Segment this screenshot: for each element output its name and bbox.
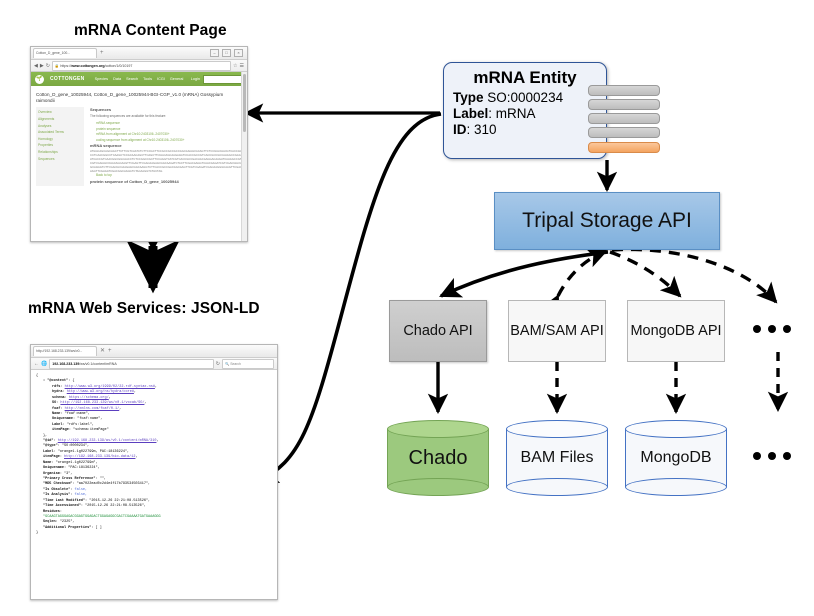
json-ld-browser-window[interactable]: http://192.168.233.139/ws/v0... ✕ + ← 🌐 … [30,344,278,600]
site-search-input[interactable] [203,75,243,84]
login-link[interactable]: Login [191,77,200,81]
tripal-storage-api-label: Tripal Storage API [522,209,692,233]
json-token: itemPage [52,428,69,432]
entity-row-id: ID: 310 [453,122,606,137]
url-scheme: https:// [60,64,71,68]
page-title: Cotton_D_gene_10025944, Cotton_D_gene_10… [31,86,247,107]
nav-tools[interactable]: Tools [143,77,152,81]
json-token: Seqlen [43,520,56,524]
nav-icgi[interactable]: ICGI [157,77,165,81]
tripal-storage-api-box[interactable]: Tripal Storage API [494,192,720,250]
entity-row-id-value: : 310 [467,122,497,137]
json-browser-titlebar: http://192.168.233.139/ws/v0... ✕ + [31,345,277,358]
json-token: Residues [43,510,60,514]
subheading-protein-sequence: protein sequence of Cotton_D_gene_100259… [90,179,242,184]
json-token: "Additional Properties" [43,526,91,530]
json-token: "2015-12-26 22:21:08.513526", [89,499,150,503]
search-icon: 🔍 [225,362,229,366]
json-token: { [36,374,38,378]
json-token: , [155,385,157,389]
link-protein-sequence[interactable]: protein sequence [96,127,242,131]
json-token: "@context" [47,379,68,383]
ellipsis-dot [768,325,776,333]
json-browser-navbar: ← 🌐 192.168.233.139/ws/v0.1/content/mRNA… [31,358,277,370]
back-icon[interactable]: ← [34,361,39,367]
json-token: "@type" [43,444,58,448]
ellipsis-dot [753,452,761,460]
cottongen-nav[interactable]: Species Data Search Tools ICGI General [95,77,184,81]
content-browser-address-bar[interactable]: 🔒 https://www.cottongen.org/cotton/1/0/1… [52,61,231,71]
ellipsis-dot [783,452,791,460]
minimize-icon[interactable]: – [210,49,219,57]
sidebar-item-properties[interactable]: Properties [38,143,82,147]
entity-field-bar-3 [588,113,660,124]
bookmark-star-icon[interactable]: ☆ [233,63,237,69]
arrow-storage-to-mongodb-api [610,252,680,296]
json-link[interactable]: http://www.w3.org/ns/hydra/core# [67,390,134,394]
json-token: "Primary Cross Reference" [43,477,96,481]
json-token: Uniquename [43,466,64,470]
url-path: /ws/v0.1/content/mRNA [79,362,117,366]
json-token: "aa7022ead0c2d4e4f17b793534503417", [77,482,151,486]
entity-field-bar-2 [588,99,660,110]
json-token: , [119,407,121,411]
entity-row-type: Type SO:0000234 [453,90,606,105]
arrow-storage-to-chado-api [441,252,608,296]
entity-row-label-key: Label [453,106,488,121]
json-token: }, [43,434,47,438]
link-mrna-from-alignment[interactable]: mRNA from alignment at Chr10:2403106..24… [96,132,242,136]
sidebar-item-alignments[interactable]: Alignments [38,117,82,121]
close-tab-icon[interactable]: ✕ [100,347,105,356]
page-columns: Overview Alignments Analyses Associated … [31,107,247,185]
json-token: , [144,401,146,405]
json-token: Label [52,423,63,427]
cottongen-nav-right: Login [191,75,243,84]
nav-general[interactable]: General [170,77,184,81]
json-link[interactable]: https://schema.org/ [69,396,109,400]
json-token: Label [43,450,54,454]
sidebar-item-relationships[interactable]: Relationships [38,150,82,154]
json-token: : { [68,379,74,383]
json-ld-document: {• "@context": {rdfs: http://www.w3.org/… [31,370,277,541]
subheading-mrna-sequence: mRNA sequence [90,143,242,148]
mongodb-api-box[interactable]: MongoDB API [627,300,725,362]
chado-api-box[interactable]: Chado API [389,300,487,362]
json-token: "Is Obsolete" [43,488,70,492]
cottongen-logo-icon: 🌱 [35,75,44,84]
json-token: hydra [52,390,63,394]
content-page-browser-window[interactable]: Cotton_D_gene_100... + – □ × ◀ ▶ ↻ 🔒 htt… [30,46,248,242]
json-token: "Time Accessioned" [43,504,81,508]
json-link[interactable]: http://192.168.233.139/ws/v0.1/content/m… [58,439,157,443]
json-token: "2325", [60,520,75,524]
content-browser-titlebar: Cotton_D_gene_100... + – □ × [31,47,247,60]
json-line: } [36,531,272,536]
reload-icon[interactable]: ↻ [46,63,50,69]
json-token: , [134,390,136,394]
content-browser-tab[interactable]: Cotton_D_gene_100... [33,48,97,58]
menu-icon[interactable]: ☰ [240,63,244,69]
entity-row-type-value: SO:0000234 [484,90,564,105]
ellipsis-dot [768,452,776,460]
arrow-storage-to-more [612,249,776,302]
sequence-block: ATGGCAGCAGCAGCTTCTTCGTCAATCTCTTCCGCTTCCG… [90,150,242,173]
json-link[interactable]: http://www.w3.org/1999/02/22-rdf-syntax-… [65,385,155,389]
content-browser-scrollbar[interactable] [241,72,247,242]
json-browser-address-bar[interactable]: 192.168.233.139/ws/v0.1/content/mRNA [49,359,214,369]
mongodb-datastore-label: MongoDB [625,420,727,496]
mongodb-api-label: MongoDB API [630,323,721,340]
scrollbar-thumb[interactable] [243,74,246,132]
json-link[interactable]: http://192.168.233.139/ws/v0.1/vocab/SO/ [60,401,144,405]
page-sidebar[interactable]: Overview Alignments Analyses Associated … [36,107,84,185]
url-path: /cotton/1/0/10197 [105,64,133,68]
ellipsis-dot [753,325,761,333]
bam-sam-api-box[interactable]: BAM/SAM API [508,300,606,362]
close-icon[interactable]: × [234,49,243,57]
nav-data[interactable]: Data [113,77,121,81]
bam-files-datastore-label: BAM Files [506,420,608,496]
json-token: "2015-12-26 22:21:08.513526", [85,504,146,508]
json-token: "rdfs:label", [67,423,94,427]
json-token: "", [100,477,106,481]
entity-row-label: Label: mRNA [453,106,606,121]
sidebar-item-analyses[interactable]: Analyses [38,124,82,128]
chado-datastore[interactable]: Chado [387,420,489,496]
heading-mrna-web-services: mRNA Web Services: JSON-LD [28,300,260,318]
json-token: "PAC:18136224", [68,466,100,470]
link-coding-sequence-from-alignment[interactable]: coding sequence from alignment at Chr10:… [96,138,242,142]
section-intro-text: The following sequences are available fo… [90,114,242,118]
json-token: Uniquename [52,417,73,421]
json-token: Organism [43,472,60,476]
json-token: "foaf:name", [77,417,102,421]
entity-row-label-value: : mRNA [488,106,535,121]
entity-title: mRNA Entity [444,68,606,88]
json-token: "Time Last Modified" [43,499,85,503]
heading-mrna-content-page: mRNA Content Page [74,22,227,40]
json-token: itemPage [43,455,60,459]
bam-sam-api-label: BAM/SAM API [510,323,603,340]
forward-icon[interactable]: ▶ [40,63,44,69]
json-browser-tab[interactable]: http://192.168.233.139/ws/v0... [33,346,97,356]
arrow-bamsam-to-storage [558,251,606,296]
json-token: "GCAAGTAGGGAGACGGAGTGGAGACTGGAGAGGCGACTC… [43,515,161,519]
link-mrna-sequence[interactable]: mRNA sequence [96,121,242,125]
url-host: www.cottongen.org [71,64,104,68]
lock-icon: 🔒 [55,64,59,68]
back-to-top-link[interactable]: Back to top [96,173,242,177]
page-main-content: Sequences The following sequences are av… [90,107,242,185]
json-token: schema [52,396,65,400]
more-datastores-ellipsis [753,452,791,460]
json-token: false, [75,488,88,492]
content-browser-viewport: 🌱 COTTONGEN Species Data Search Tools IC… [31,72,247,242]
entity-field-bar-1 [588,85,660,96]
bam-files-datastore[interactable]: BAM Files [506,420,608,496]
new-tab-icon[interactable]: + [100,49,104,58]
nav-search[interactable]: Search [126,77,138,81]
entity-field-bar-highlight [588,142,660,153]
json-token: , [156,439,158,443]
json-link[interactable]: http://xmlns.com/foaf/0.1/ [65,407,120,411]
json-token: "foaf:name", [65,412,90,416]
json-token: } [36,531,38,535]
chado-datastore-label: Chado [387,420,489,496]
json-browser-viewport: {• "@context": {rdfs: http://www.w3.org/… [31,370,277,600]
search-placeholder: Search [230,362,241,366]
back-icon[interactable]: ◀ [34,63,38,69]
chado-api-label: Chado API [403,323,472,340]
sidebar-item-associated-terms[interactable]: Associated Terms [38,130,82,134]
reload-icon[interactable]: ↻ [216,361,220,367]
json-token: "orange1.1g022799m", [56,461,98,465]
json-token: "orange1.1g022799m, PAC:18136224", [58,450,129,454]
json-token: : [ ] [91,526,102,530]
maximize-icon[interactable]: □ [222,49,231,57]
json-token: "Is Analysis" [43,493,70,497]
json-token: false, [75,493,88,497]
section-heading-sequences: Sequences [90,107,242,112]
entity-field-bar-4 [588,127,660,138]
cottongen-brand: COTTONGEN [50,76,85,82]
sidebar-item-overview[interactable]: Overview [38,110,82,114]
nav-species[interactable]: Species [95,77,109,81]
entity-row-id-key: ID [453,122,467,137]
globe-icon: 🌐 [41,361,47,367]
json-token: "schema:itemPage" [73,428,109,432]
url-host: 192.168.233.139 [52,362,79,366]
more-apis-ellipsis [753,325,791,333]
cottongen-navbar: 🌱 COTTONGEN Species Data Search Tools IC… [31,72,247,86]
json-link[interactable]: http://192.168.233.139/bio-data/12 [64,455,135,459]
json-token: "MD5 Checksum" [43,482,72,486]
json-token: : [60,510,62,514]
json-token: "3", [64,472,72,476]
json-token: , [135,455,137,459]
json-token: "@id" [43,439,54,443]
sidebar-item-sequences[interactable]: Sequences [38,157,82,161]
mongodb-datastore[interactable]: MongoDB [625,420,727,496]
browser-search-input[interactable]: 🔍 Search [222,359,274,369]
mrna-entity-card[interactable]: mRNA Entity Type SO:0000234 Label: mRNA … [443,62,607,159]
content-browser-navbar: ◀ ▶ ↻ 🔒 https://www.cottongen.org/cotton… [31,60,247,72]
sidebar-item-homology[interactable]: Homology [38,137,82,141]
json-token: "SO:0000234", [62,444,89,448]
content-browser-window-buttons[interactable]: – □ × [210,49,245,57]
entity-row-type-key: Type [453,90,484,105]
ellipsis-dot [783,325,791,333]
json-token: , [109,396,111,400]
new-tab-icon[interactable]: + [108,347,112,356]
